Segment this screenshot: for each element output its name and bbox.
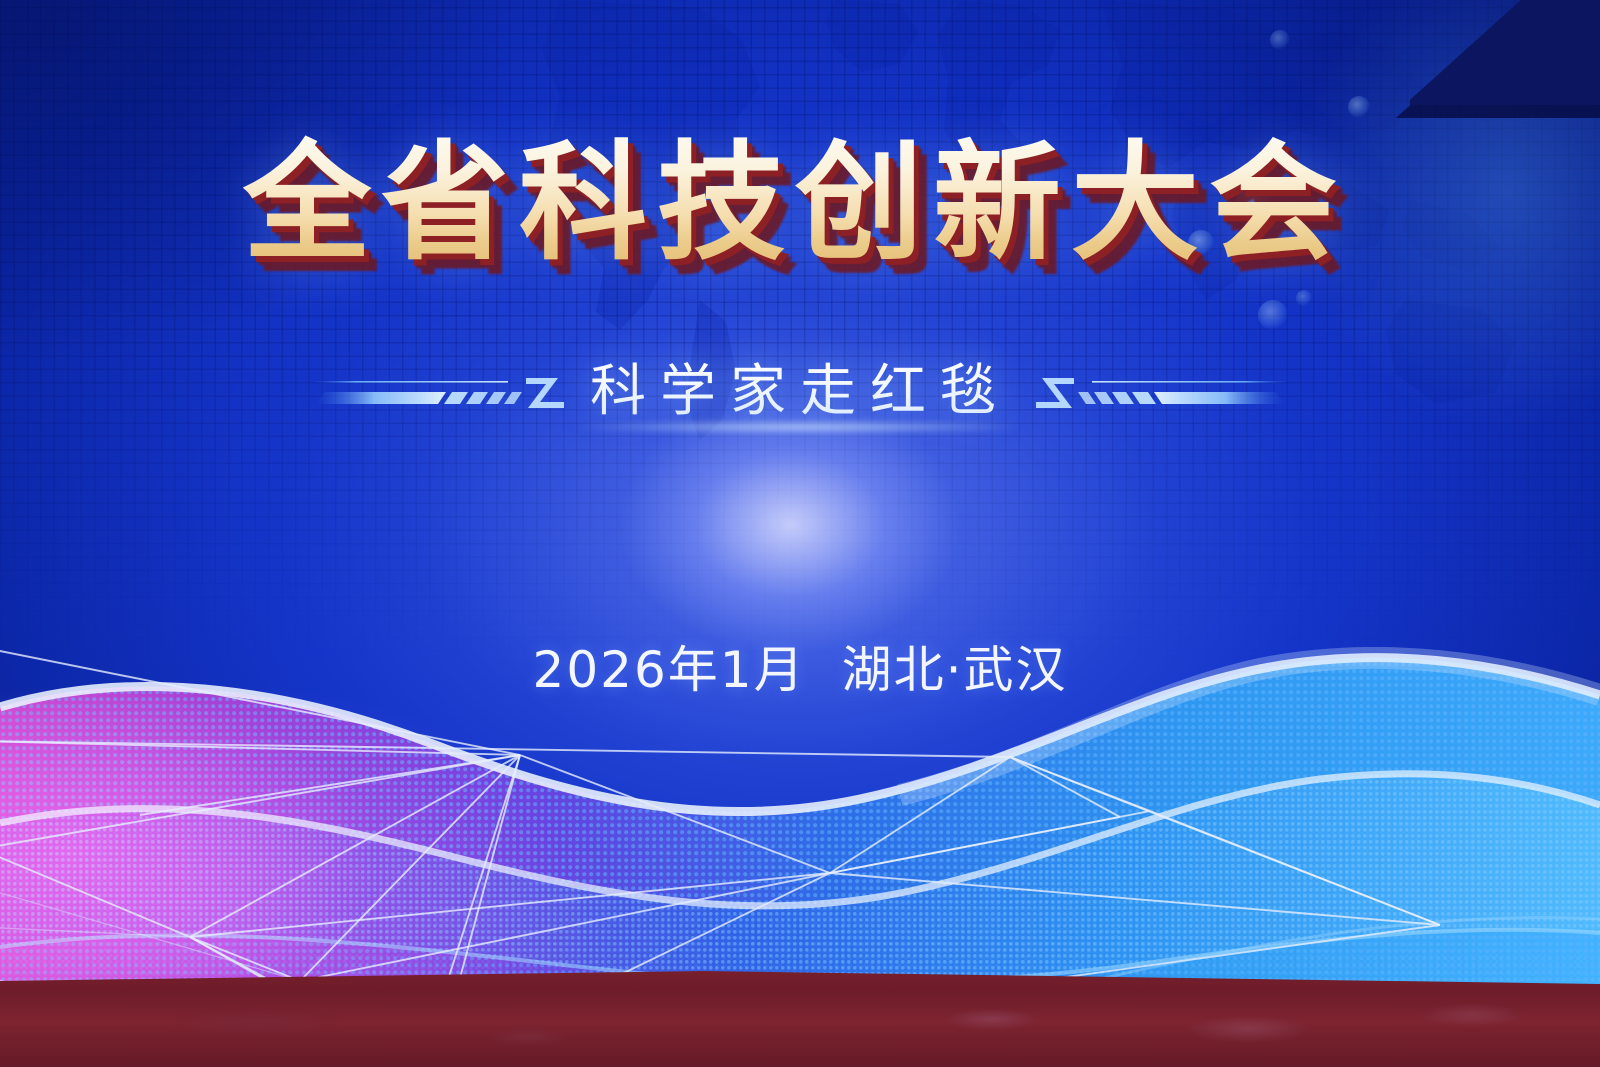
subtitle-row: 科学家走红毯	[0, 346, 1600, 427]
event-location: 湖北·武汉	[842, 641, 1068, 699]
tech-bracket-left-icon	[312, 356, 564, 418]
page-title: 全省科技创新大会	[243, 132, 1357, 275]
conference-backdrop-screen: 全省科技创新大会	[0, 0, 1600, 1067]
event-date-location: 2026年1月湖北·武汉	[0, 630, 1600, 702]
subtitle-text: 科学家走红毯	[564, 346, 1036, 427]
tech-bracket-right-icon	[1036, 356, 1288, 418]
main-title-container: 全省科技创新大会	[0, 132, 1600, 275]
event-date: 2026年1月	[533, 641, 806, 699]
backdrop-text-content: 全省科技创新大会	[0, 0, 1600, 1067]
